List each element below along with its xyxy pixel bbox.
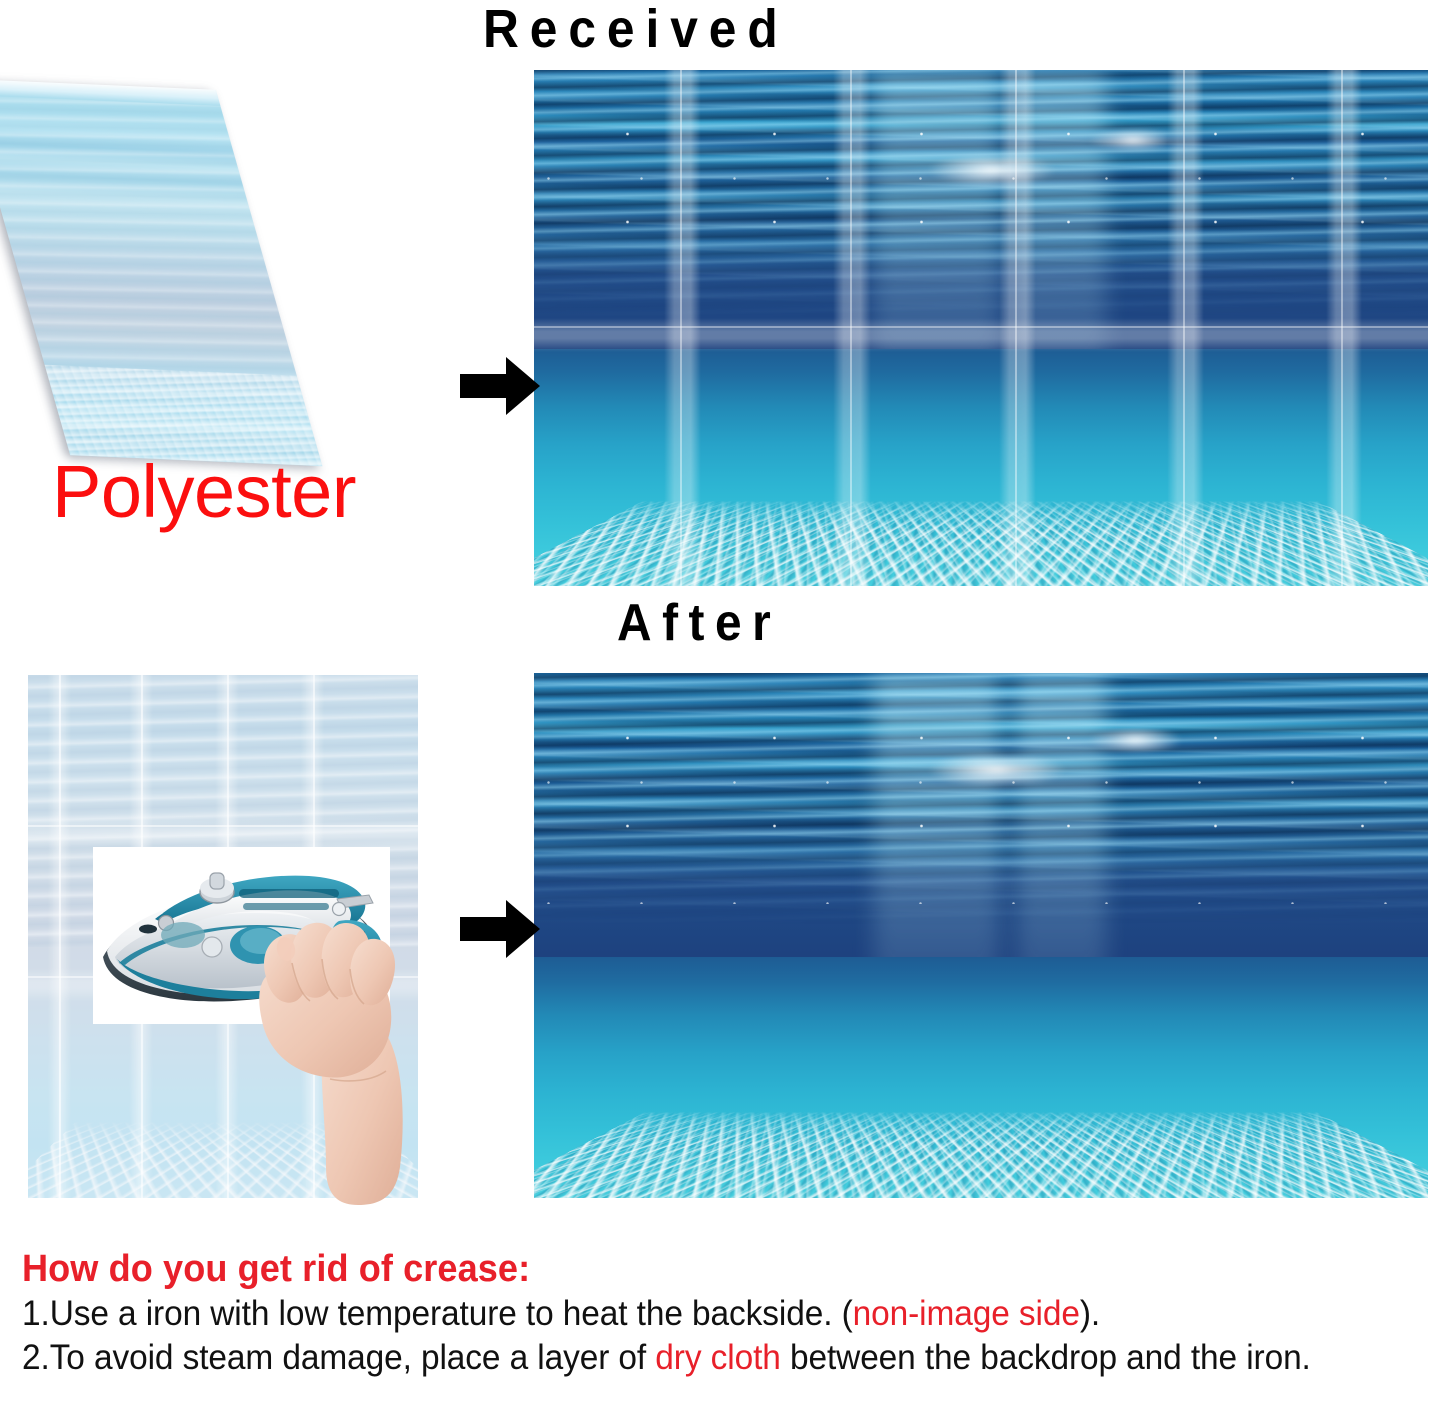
instruction-2-number: 2 [22, 1338, 41, 1377]
instruction-1-text-b: ). [1080, 1294, 1100, 1333]
right-arrow-icon [460, 900, 540, 963]
bubble-specks [534, 684, 1428, 905]
received-backdrop-photo [534, 70, 1428, 586]
instruction-line-1: 1.Use a iron with low temperature to hea… [22, 1292, 1369, 1337]
right-arrow-icon [460, 357, 540, 420]
folded-fabric-image [0, 79, 322, 466]
instructions-heading: How do you get rid of crease: [22, 1248, 1362, 1292]
instruction-2-highlight: dry cloth [655, 1338, 780, 1377]
instruction-1-highlight: non-image side [853, 1294, 1080, 1333]
section-title-after: After [617, 597, 781, 649]
steam-iron-icon [93, 847, 390, 1024]
instruction-line-2: 2.To avoid steam damage, place a layer o… [22, 1336, 1369, 1381]
bubble-specks [534, 80, 1428, 297]
section-title-received: Received [483, 2, 789, 56]
instruction-1-number: 1 [22, 1294, 41, 1333]
instructions-block: How do you get rid of crease: 1.Use a ir… [22, 1248, 1432, 1381]
steam-iron-inset [93, 847, 390, 1024]
material-label: Polyester [52, 455, 356, 529]
instruction-2-text-a: .To avoid steam damage, place a layer of [41, 1338, 656, 1377]
instruction-1-text-a: .Use a iron with low temperature to heat… [41, 1294, 853, 1333]
folded-fabric-surface [0, 79, 322, 466]
instruction-2-text-b: between the backdrop and the iron. [781, 1338, 1311, 1377]
after-backdrop-photo [534, 673, 1428, 1198]
